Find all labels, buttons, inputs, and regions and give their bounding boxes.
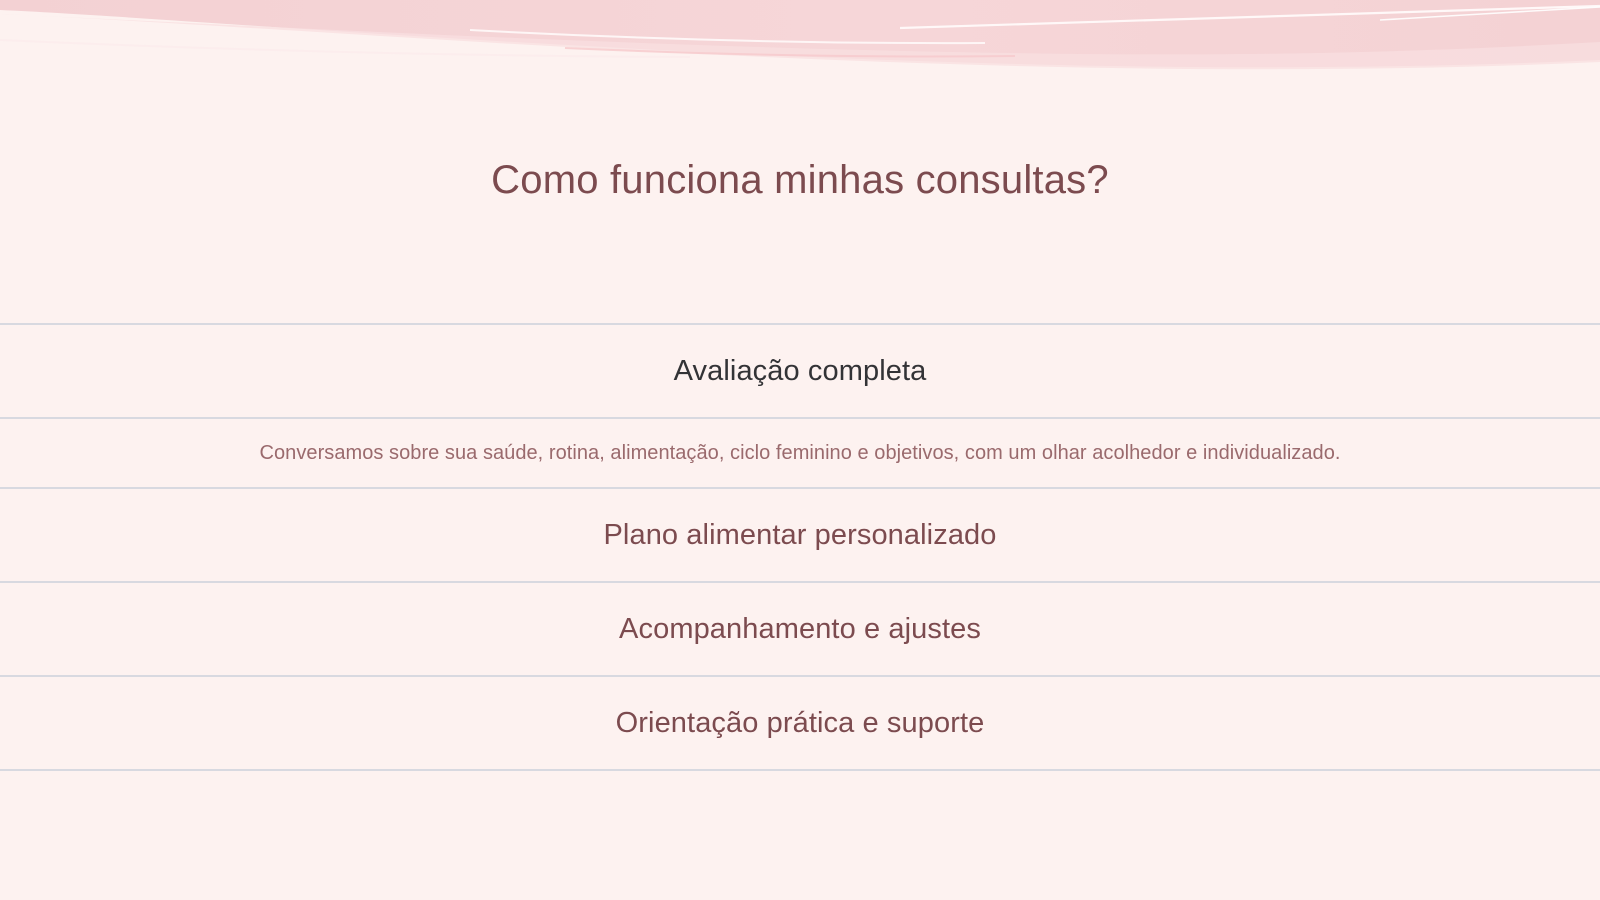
accordion-panel: Conversamos sobre sua saúde, rotina, ali… xyxy=(0,417,1600,487)
accordion-item-label: Acompanhamento e ajustes xyxy=(619,612,981,647)
wave-band-secondary xyxy=(0,14,1600,69)
accordion-header-orientacao-pratica-e-suporte[interactable]: Orientação prática e suporte xyxy=(0,677,1600,769)
wave-highlight-line-4 xyxy=(0,40,690,57)
accordion-header-avaliacao-completa[interactable]: Avaliação completa xyxy=(0,325,1600,417)
wave-highlight-line-1 xyxy=(900,6,1600,28)
accordion-item: Avaliação completa Conversamos sobre sua… xyxy=(0,323,1600,487)
wave-highlight-line-5 xyxy=(1380,7,1600,20)
wave-band-primary xyxy=(0,0,1600,67)
accordion-item-body: Conversamos sobre sua saúde, rotina, ali… xyxy=(0,419,1600,487)
accordion-header-acompanhamento-e-ajustes[interactable]: Acompanhamento e ajustes xyxy=(0,583,1600,675)
accordion-item: Orientação prática e suporte xyxy=(0,675,1600,771)
accordion-item-label: Avaliação completa xyxy=(674,354,927,389)
accordion-item-label: Orientação prática e suporte xyxy=(616,706,985,741)
accordion-item: Plano alimentar personalizado xyxy=(0,487,1600,581)
faq-accordion: Avaliação completa Conversamos sobre sua… xyxy=(0,323,1600,771)
wave-highlight-line-2 xyxy=(470,30,985,43)
accordion-header-plano-alimentar-personalizado[interactable]: Plano alimentar personalizado xyxy=(0,489,1600,581)
page-title: Como funciona minhas consultas? xyxy=(0,155,1600,205)
page-root: Como funciona minhas consultas? Avaliaçã… xyxy=(0,0,1600,900)
decorative-pink-wave-banner xyxy=(0,0,1600,80)
accordion-item: Acompanhamento e ajustes xyxy=(0,581,1600,675)
wave-highlight-line-3 xyxy=(565,48,1015,57)
accordion-item-label: Plano alimentar personalizado xyxy=(603,518,996,553)
wave-graphic xyxy=(0,0,1600,80)
